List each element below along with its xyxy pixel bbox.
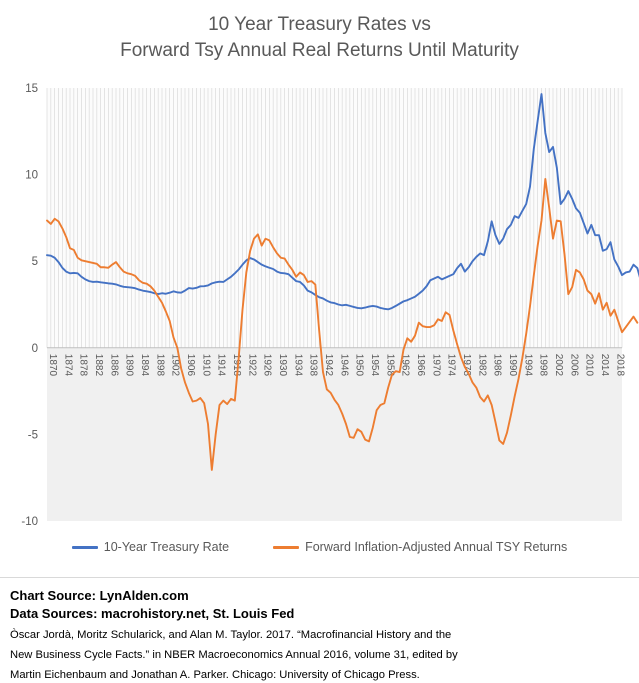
svg-text:1942: 1942 xyxy=(323,354,334,377)
svg-text:1930: 1930 xyxy=(277,354,288,377)
svg-text:1922: 1922 xyxy=(246,354,257,377)
svg-text:1914: 1914 xyxy=(216,354,227,377)
svg-text:-10: -10 xyxy=(21,516,38,528)
svg-text:1926: 1926 xyxy=(262,354,273,377)
chart-card: 10 Year Treasury Rates vs Forward Tsy An… xyxy=(0,0,639,578)
svg-text:1938: 1938 xyxy=(308,354,319,377)
svg-text:1978: 1978 xyxy=(461,354,472,377)
svg-text:1898: 1898 xyxy=(154,354,165,377)
svg-text:1954: 1954 xyxy=(369,354,380,377)
data-sources-line: Data Sources: macrohistory.net, St. Loui… xyxy=(10,605,629,623)
svg-text:1874: 1874 xyxy=(62,354,73,377)
svg-text:1906: 1906 xyxy=(185,354,196,377)
legend-item-treasury-rate[interactable]: 10-Year Treasury Rate xyxy=(72,540,229,554)
svg-text:15: 15 xyxy=(25,83,38,95)
citation-line-1: Òscar Jordà, Moritz Schularick, and Alan… xyxy=(10,627,629,643)
legend-swatch-blue xyxy=(72,546,98,549)
svg-text:2018: 2018 xyxy=(614,354,625,377)
svg-text:2006: 2006 xyxy=(568,354,579,377)
legend-swatch-orange xyxy=(273,546,299,549)
svg-text:1966: 1966 xyxy=(415,354,426,377)
svg-text:1994: 1994 xyxy=(522,354,533,377)
svg-text:1990: 1990 xyxy=(507,354,518,377)
legend-label-forward-returns: Forward Inflation-Adjusted Annual TSY Re… xyxy=(305,540,567,554)
chart-source-line: Chart Source: LynAlden.com xyxy=(10,587,629,605)
svg-text:1950: 1950 xyxy=(354,354,365,377)
line-chart-svg: 151050-5-10 1870187418781882188618901894… xyxy=(0,0,639,578)
y-axis-tick-labels: 151050-5-10 xyxy=(21,83,38,528)
svg-text:1886: 1886 xyxy=(108,354,119,377)
svg-text:1998: 1998 xyxy=(538,354,549,377)
legend-item-forward-returns[interactable]: Forward Inflation-Adjusted Annual TSY Re… xyxy=(273,540,567,554)
chart-legend: 10-Year Treasury Rate Forward Inflation-… xyxy=(0,540,639,554)
svg-text:1934: 1934 xyxy=(292,354,303,377)
svg-text:10: 10 xyxy=(25,170,38,182)
svg-text:1882: 1882 xyxy=(93,354,104,377)
svg-text:1970: 1970 xyxy=(430,354,441,377)
svg-text:1878: 1878 xyxy=(78,354,89,377)
citation-line-3: Martin Eichenbaum and Jonathan A. Parker… xyxy=(10,667,629,683)
citation-line-2: New Business Cycle Facts.” in NBER Macro… xyxy=(10,647,629,663)
svg-text:1946: 1946 xyxy=(338,354,349,377)
svg-text:1986: 1986 xyxy=(492,354,503,377)
svg-text:1894: 1894 xyxy=(139,354,150,377)
svg-text:5: 5 xyxy=(32,256,38,268)
svg-text:2002: 2002 xyxy=(553,354,564,377)
footer-sources: Chart Source: LynAlden.com Data Sources:… xyxy=(0,579,639,673)
svg-text:1982: 1982 xyxy=(476,354,487,377)
svg-text:1974: 1974 xyxy=(446,354,457,377)
svg-text:0: 0 xyxy=(32,343,38,355)
svg-text:1890: 1890 xyxy=(124,354,135,377)
plot-area: 151050-5-10 1870187418781882188618901894… xyxy=(0,0,639,578)
svg-text:2010: 2010 xyxy=(584,354,595,377)
svg-text:1910: 1910 xyxy=(200,354,211,377)
svg-text:-5: -5 xyxy=(28,429,38,441)
svg-text:1870: 1870 xyxy=(47,354,58,377)
legend-label-treasury-rate: 10-Year Treasury Rate xyxy=(104,540,229,554)
svg-text:2014: 2014 xyxy=(599,354,610,377)
